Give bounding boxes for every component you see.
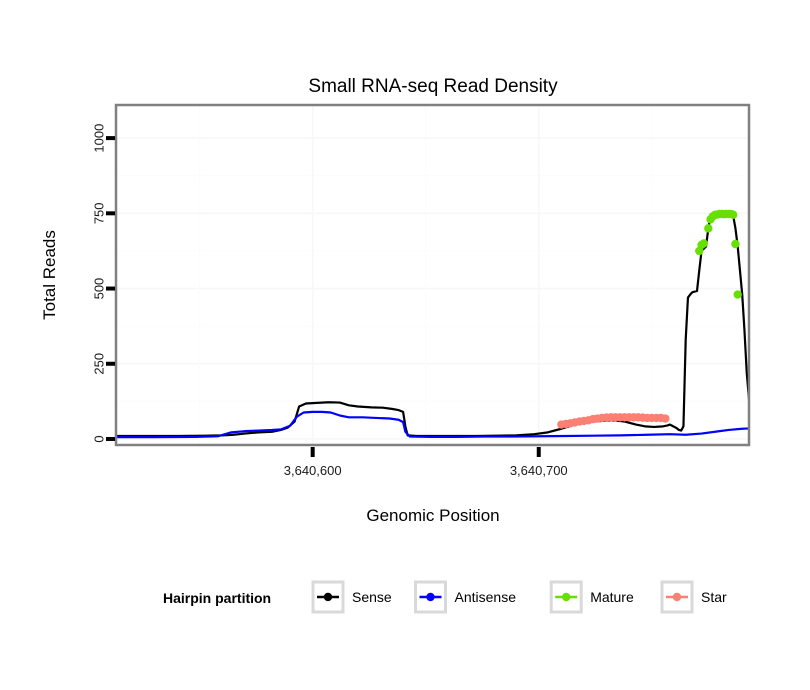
plot-panel-background — [116, 105, 749, 445]
data-point — [700, 239, 708, 247]
y-axis-title: Total Reads — [40, 230, 59, 320]
x-tick-label: 3,640,600 — [284, 463, 342, 478]
legend-label-star[interactable]: Star — [701, 589, 727, 605]
y-tick-label: 750 — [92, 202, 107, 224]
legend-title: Hairpin partition — [163, 590, 271, 606]
legend-label-sense[interactable]: Sense — [352, 589, 392, 605]
data-point — [704, 224, 712, 232]
y-tick-label: 500 — [92, 278, 107, 300]
y-tick-label: 0 — [92, 435, 107, 442]
data-point — [731, 240, 739, 248]
legend-key-point — [324, 593, 332, 601]
data-point — [729, 211, 737, 219]
data-point — [734, 290, 742, 298]
legend-label-mature[interactable]: Mature — [590, 589, 634, 605]
y-tick-label: 250 — [92, 353, 107, 375]
legend-label-antisense[interactable]: Antisense — [455, 589, 517, 605]
legend-key-point — [426, 593, 434, 601]
chart-title: Small RNA-seq Read Density — [308, 76, 558, 97]
legend-key-point — [562, 593, 570, 601]
x-tick-label: 3,640,700 — [510, 463, 568, 478]
chart-figure: Small RNA-seq Read Density Total Reads G… — [0, 0, 810, 690]
y-tick-label: 1000 — [92, 124, 107, 153]
read-density-chart: Small RNA-seq Read Density Total Reads G… — [0, 0, 810, 690]
x-axis-title: Genomic Position — [366, 506, 499, 525]
data-point — [661, 414, 669, 422]
legend-key-point — [673, 593, 681, 601]
